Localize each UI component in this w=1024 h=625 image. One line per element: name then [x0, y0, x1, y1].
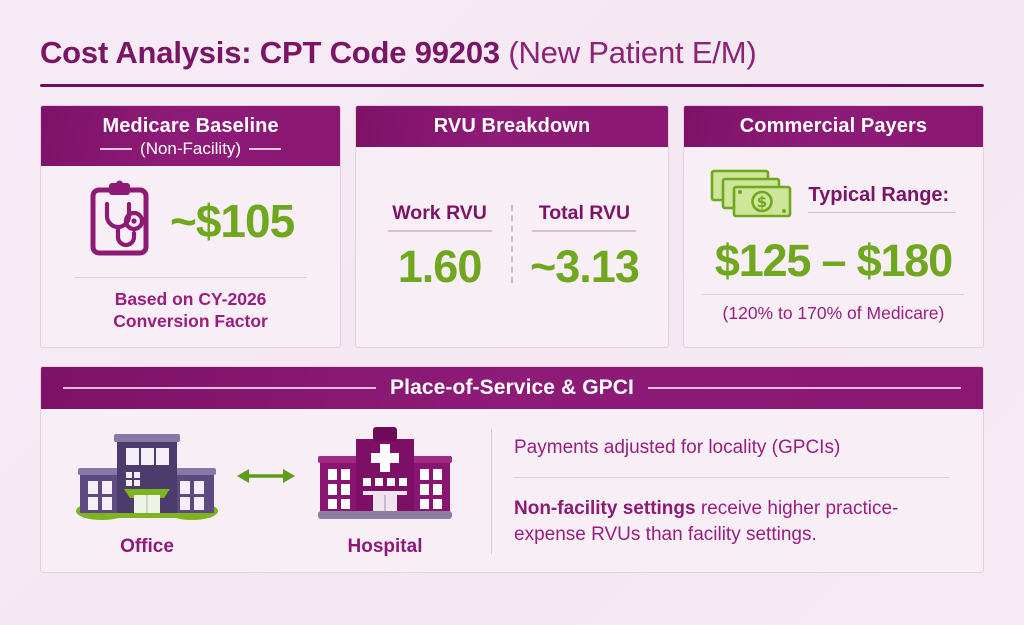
card-commercial-payers: Commercial Payers $	[683, 105, 984, 348]
card-commercial-divider	[702, 294, 964, 295]
place-item-office: Office	[67, 425, 227, 558]
card-rvu-title: RVU Breakdown	[366, 115, 658, 138]
card-medicare-baseline: Medicare Baseline (Non-Facility)	[40, 105, 341, 348]
card-medicare-header: Medicare Baseline (Non-Facility)	[41, 106, 340, 166]
rvu-total-label: Total RVU	[539, 203, 630, 224]
card-commercial-header: Commercial Payers	[684, 106, 983, 147]
card-medicare-value: ~$105	[170, 198, 294, 244]
card-medicare-subtitle-text: (Non-Facility)	[140, 139, 241, 159]
card-row: Medicare Baseline (Non-Facility)	[0, 87, 1024, 348]
card-medicare-body: ~$105 Based on CY-2026 Conversion Factor	[41, 166, 340, 347]
rvu-work-label: Work RVU	[392, 203, 487, 224]
card-medicare-footnote-line1: Based on CY-2026	[113, 288, 268, 310]
infographic-page: Cost Analysis: CPT Code 99203 (New Patie…	[0, 0, 1024, 625]
panel-vertical-divider	[491, 429, 492, 554]
rvu-work-value: 1.60	[398, 244, 482, 289]
card-commercial-range-underline	[808, 212, 956, 214]
rvu-total-underline	[532, 230, 636, 232]
panel-note-1: Payments adjusted for locality (GPCIs)	[514, 435, 949, 477]
card-medicare-subtitle: (Non-Facility)	[51, 139, 330, 159]
rvu-column-total: Total RVU ~3.13	[513, 203, 656, 289]
panel-header: Place-of-Service & GPCI	[41, 367, 983, 409]
card-medicare-title: Medicare Baseline	[51, 115, 330, 138]
money-banknotes-icon: $	[710, 167, 796, 230]
place-label-hospital: Hospital	[348, 536, 423, 558]
card-medicare-value-row: ~$105	[87, 180, 294, 263]
page-title-paren: (New Patient E/M)	[508, 35, 756, 70]
office-building-icon	[72, 425, 222, 528]
panel-place-of-service: Place-of-Service & GPCI	[40, 366, 984, 573]
double-arrow-icon	[235, 464, 297, 518]
panel-header-title: Place-of-Service & GPCI	[390, 376, 634, 400]
page-title-main: Cost Analysis: CPT Code 99203	[40, 35, 508, 70]
card-medicare-footnote-line2: Conversion Factor	[113, 310, 268, 332]
card-medicare-divider	[75, 277, 307, 278]
card-rvu-header: RVU Breakdown	[356, 106, 668, 147]
clipboard-stethoscope-icon	[87, 180, 161, 263]
panel-body: Office	[41, 409, 983, 572]
card-rvu-breakdown: RVU Breakdown Work RVU 1.60 Total RVU ~3…	[355, 105, 669, 348]
place-label-office: Office	[120, 536, 174, 558]
card-commercial-range-value: $125 – $180	[715, 238, 952, 283]
rvu-grid: Work RVU 1.60 Total RVU ~3.13	[368, 203, 656, 289]
card-commercial-range-label: Typical Range:	[808, 184, 949, 206]
card-rvu-body: Work RVU 1.60 Total RVU ~3.13	[356, 147, 668, 347]
panel-note-2: Non-facility settings receive higher pra…	[514, 478, 949, 547]
hospital-building-icon	[310, 425, 460, 528]
card-commercial-footnote: (120% to 170% of Medicare)	[723, 303, 945, 324]
rvu-work-underline	[388, 230, 492, 232]
card-commercial-range-row: $ Typical Range:	[710, 167, 956, 230]
panel-note-2-bold: Non-facility settings	[514, 498, 696, 519]
card-commercial-range-block: Typical Range:	[808, 184, 956, 214]
rvu-column-work: Work RVU 1.60	[368, 203, 511, 289]
card-commercial-title: Commercial Payers	[694, 115, 973, 138]
card-commercial-body: $ Typical Range: $125 – $180 (120% to 17…	[684, 147, 983, 347]
title-section: Cost Analysis: CPT Code 99203 (New Patie…	[0, 0, 1024, 87]
card-medicare-footnote: Based on CY-2026 Conversion Factor	[113, 288, 268, 333]
panel-header-rule-left	[63, 387, 376, 389]
place-item-hospital: Hospital	[305, 425, 465, 558]
panel-header-rule-right	[648, 387, 961, 389]
panel-notes: Payments adjusted for locality (GPCIs) N…	[514, 425, 973, 558]
rvu-total-value: ~3.13	[530, 244, 639, 289]
place-of-service-icons: Office	[51, 425, 481, 558]
page-title: Cost Analysis: CPT Code 99203 (New Patie…	[40, 36, 984, 70]
svg-text:$: $	[757, 193, 767, 211]
